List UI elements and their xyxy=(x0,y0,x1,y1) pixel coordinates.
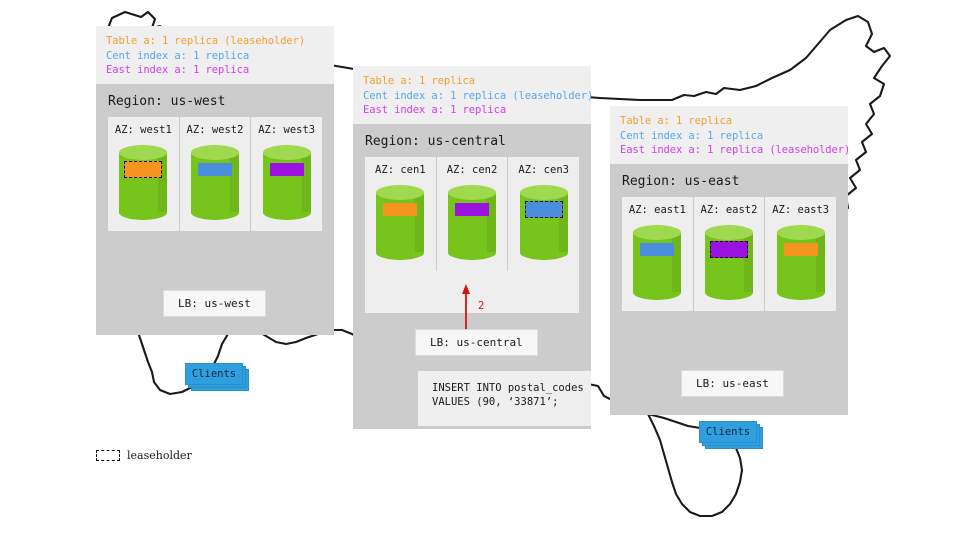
replica-line-cent: Cent index a: 1 replica xyxy=(106,49,324,64)
cylinder-shading xyxy=(415,192,424,252)
cylinder-top xyxy=(263,145,311,160)
az-label: AZ: east2 xyxy=(701,204,758,216)
arrow-step-label: 2 xyxy=(478,300,484,312)
region-title: Region: us-east xyxy=(610,164,848,197)
replica-line-east: East index a: 1 replica (leaseholder) xyxy=(620,143,838,158)
az-row-us-east: AZ: east1 AZ: east2 xyxy=(622,197,836,311)
cylinder-shading xyxy=(816,232,825,292)
load-balancer-us-central[interactable]: LB: us-central xyxy=(415,329,538,356)
az-label: AZ: west3 xyxy=(258,124,315,136)
az-cell-cen1[interactable]: AZ: cen1 xyxy=(365,157,437,271)
replica-line-east: East index a: 1 replica xyxy=(363,103,581,118)
az-label: AZ: cen1 xyxy=(375,164,426,176)
replica-legend-us-west: Table a: 1 replica (leaseholder) Cent in… xyxy=(96,26,334,84)
clients-button[interactable]: Clients xyxy=(185,363,243,385)
replica-chip-cent-index-leaseholder xyxy=(525,201,563,218)
replica-chip-table-a-leaseholder xyxy=(124,161,162,178)
az-label: AZ: west2 xyxy=(187,124,244,136)
cylinder-top xyxy=(520,185,568,200)
db-node-cylinder[interactable] xyxy=(119,145,167,219)
clients-stack-us-west[interactable]: Clients xyxy=(185,363,247,389)
replica-chip-cent-index xyxy=(198,163,232,176)
db-node-cylinder[interactable] xyxy=(633,225,681,299)
replica-line-table: Table a: 1 replica xyxy=(363,74,581,89)
load-balancer-us-west[interactable]: LB: us-west xyxy=(163,290,266,317)
az-cell-east2[interactable]: AZ: east2 xyxy=(694,197,766,311)
cylinder-shading xyxy=(302,152,311,212)
cylinder-shading xyxy=(672,232,681,292)
diagram-canvas: Table a: 1 replica (leaseholder) Cent in… xyxy=(0,0,960,540)
clients-stack-us-east[interactable]: Clients xyxy=(699,421,761,447)
db-node-cylinder[interactable] xyxy=(705,225,753,299)
db-node-cylinder[interactable] xyxy=(376,185,424,259)
replica-legend-us-east: Table a: 1 replica Cent index a: 1 repli… xyxy=(610,106,848,164)
az-label: AZ: west1 xyxy=(115,124,172,136)
region-card-us-west: Table a: 1 replica (leaseholder) Cent in… xyxy=(96,26,334,335)
region-title: Region: us-west xyxy=(96,84,334,117)
az-label: AZ: east1 xyxy=(629,204,686,216)
replica-line-table: Table a: 1 replica (leaseholder) xyxy=(106,34,324,49)
az-cell-west3[interactable]: AZ: west3 xyxy=(251,117,322,231)
legend-label: leaseholder xyxy=(127,449,192,462)
region-body-us-west: Region: us-west AZ: west1 AZ: west2 xyxy=(96,84,334,335)
cylinder-top xyxy=(119,145,167,160)
az-cell-east1[interactable]: AZ: east1 xyxy=(622,197,694,311)
cylinder-top xyxy=(705,225,753,240)
replica-chip-table-a xyxy=(784,243,818,256)
az-label: AZ: cen2 xyxy=(447,164,498,176)
db-node-cylinder[interactable] xyxy=(191,145,239,219)
cylinder-shading xyxy=(487,192,496,252)
cylinder-top xyxy=(448,185,496,200)
region-card-us-east: Table a: 1 replica Cent index a: 1 repli… xyxy=(610,106,848,415)
dashed-rectangle-icon xyxy=(96,450,120,461)
db-node-cylinder[interactable] xyxy=(263,145,311,219)
db-node-cylinder[interactable] xyxy=(777,225,825,299)
az-row-us-west: AZ: west1 AZ: west2 xyxy=(108,117,322,231)
cylinder-top xyxy=(633,225,681,240)
clients-button[interactable]: Clients xyxy=(699,421,757,443)
cylinder-shading xyxy=(230,152,239,212)
az-label: AZ: cen3 xyxy=(518,164,569,176)
replica-chip-cent-index xyxy=(640,243,674,256)
az-label: AZ: east3 xyxy=(772,204,829,216)
az-cell-west1[interactable]: AZ: west1 xyxy=(108,117,180,231)
load-balancer-us-east[interactable]: LB: us-east xyxy=(681,370,784,397)
region-body-us-east: Region: us-east AZ: east1 AZ: east2 xyxy=(610,164,848,415)
replica-line-cent: Cent index a: 1 replica (leaseholder) xyxy=(363,89,581,104)
az-cell-cen2[interactable]: AZ: cen2 xyxy=(437,157,509,271)
cylinder-top xyxy=(376,185,424,200)
sql-statement-panel: INSERT INTO postal_codes VALUES (90, ‘33… xyxy=(418,371,591,426)
db-node-cylinder[interactable] xyxy=(520,185,568,259)
leaseholder-legend: leaseholder xyxy=(96,449,192,462)
db-node-cylinder[interactable] xyxy=(448,185,496,259)
replica-chip-east-index-leaseholder xyxy=(710,241,748,258)
replica-chip-table-a xyxy=(383,203,417,216)
replica-line-table: Table a: 1 replica xyxy=(620,114,838,129)
az-cell-cen3[interactable]: AZ: cen3 xyxy=(508,157,579,271)
replica-line-cent: Cent index a: 1 replica xyxy=(620,129,838,144)
az-row-us-central: AZ: cen1 AZ: cen2 xyxy=(365,157,579,313)
cylinder-top xyxy=(191,145,239,160)
replica-chip-east-index xyxy=(455,203,489,216)
replica-legend-us-central: Table a: 1 replica Cent index a: 1 repli… xyxy=(353,66,591,124)
az-cell-east3[interactable]: AZ: east3 xyxy=(765,197,836,311)
az-cell-west2[interactable]: AZ: west2 xyxy=(180,117,252,231)
replica-chip-east-index xyxy=(270,163,304,176)
replica-line-east: East index a: 1 replica xyxy=(106,63,324,78)
region-title: Region: us-central xyxy=(353,124,591,157)
cylinder-top xyxy=(777,225,825,240)
